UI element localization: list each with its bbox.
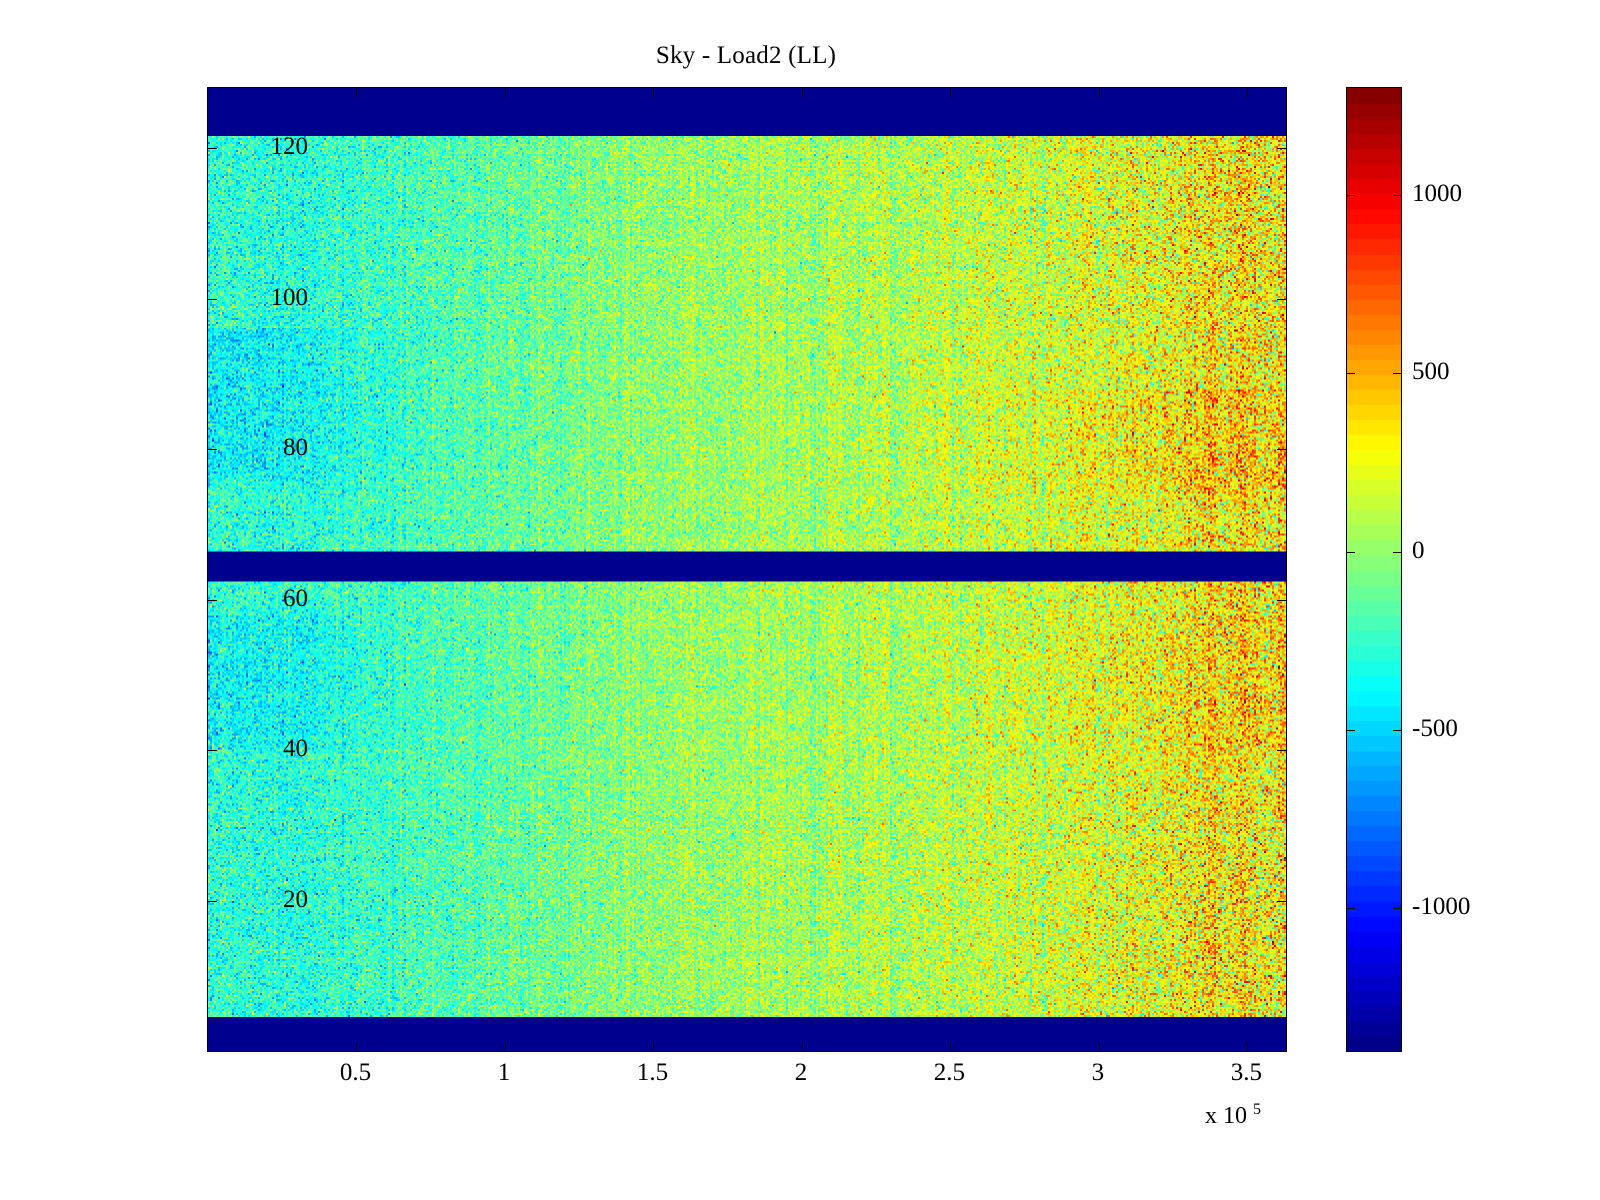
y-tick-mark [208,449,217,450]
y-tick-mark [208,148,217,149]
x-tick-label: 3.5 [1231,1059,1262,1087]
y-tick-mark [208,901,217,902]
x-tick-label: 2 [795,1059,808,1087]
colorbar-tick-label: -500 [1412,715,1458,743]
x-tick-mark [950,1042,951,1051]
colorbar-tick-mark [1347,730,1355,731]
x-tick-mark [1099,88,1100,97]
colorbar-tick-label: 500 [1412,358,1450,386]
x-tick-mark [950,88,951,97]
colorbar-tick-mark [1393,373,1401,374]
colorbar-tick-mark [1347,552,1355,553]
x-tick-label: 1.5 [637,1059,668,1087]
y-tick-label: 40 [283,735,308,763]
figure-canvas: Sky - Load2 (LL) 204060801001200.511.522… [0,0,1600,1200]
y-tick-mark [1277,901,1286,902]
colorbar-tick-mark [1347,373,1355,374]
x-axis-exponent-label: x 10 5 [1205,1101,1261,1130]
colorbar-tick-mark [1393,552,1401,553]
y-tick-mark [1277,299,1286,300]
y-tick-mark [208,600,217,601]
x-tick-mark [1247,88,1248,97]
x-tick-mark [356,88,357,97]
colorbar-tick-label: 0 [1412,537,1425,565]
y-tick-label: 20 [283,886,308,914]
colorbar-gradient [1347,88,1401,1051]
x-tick-label: 1 [498,1059,511,1087]
y-tick-label: 100 [271,284,309,312]
x-tick-mark [1247,1042,1248,1051]
colorbar-tick-mark [1347,195,1355,196]
heatmap-axes[interactable] [207,87,1287,1052]
colorbar[interactable] [1346,87,1402,1052]
page-title: Sky - Load2 (LL) [207,42,1285,70]
y-tick-label: 80 [283,434,308,462]
y-tick-label: 120 [271,133,309,161]
x-tick-mark [505,88,506,97]
colorbar-tick-label: 1000 [1412,180,1462,208]
colorbar-tick-mark [1347,908,1355,909]
y-tick-mark [1277,750,1286,751]
x-tick-label: 3 [1092,1059,1105,1087]
x-tick-mark [653,88,654,97]
x-tick-label: 2.5 [934,1059,965,1087]
colorbar-tick-mark [1393,730,1401,731]
x-tick-label: 0.5 [340,1059,371,1087]
x-tick-mark [356,1042,357,1051]
x-tick-mark [802,88,803,97]
colorbar-tick-label: -1000 [1412,893,1470,921]
y-tick-label: 60 [283,585,308,613]
y-tick-mark [1277,148,1286,149]
heatmap-image [208,88,1286,1051]
y-tick-mark [208,750,217,751]
colorbar-tick-mark [1393,908,1401,909]
x-tick-mark [1099,1042,1100,1051]
y-tick-mark [1277,600,1286,601]
y-tick-mark [1277,449,1286,450]
x-tick-mark [802,1042,803,1051]
colorbar-tick-mark [1393,195,1401,196]
x-tick-mark [653,1042,654,1051]
x-tick-mark [505,1042,506,1051]
y-tick-mark [208,299,217,300]
